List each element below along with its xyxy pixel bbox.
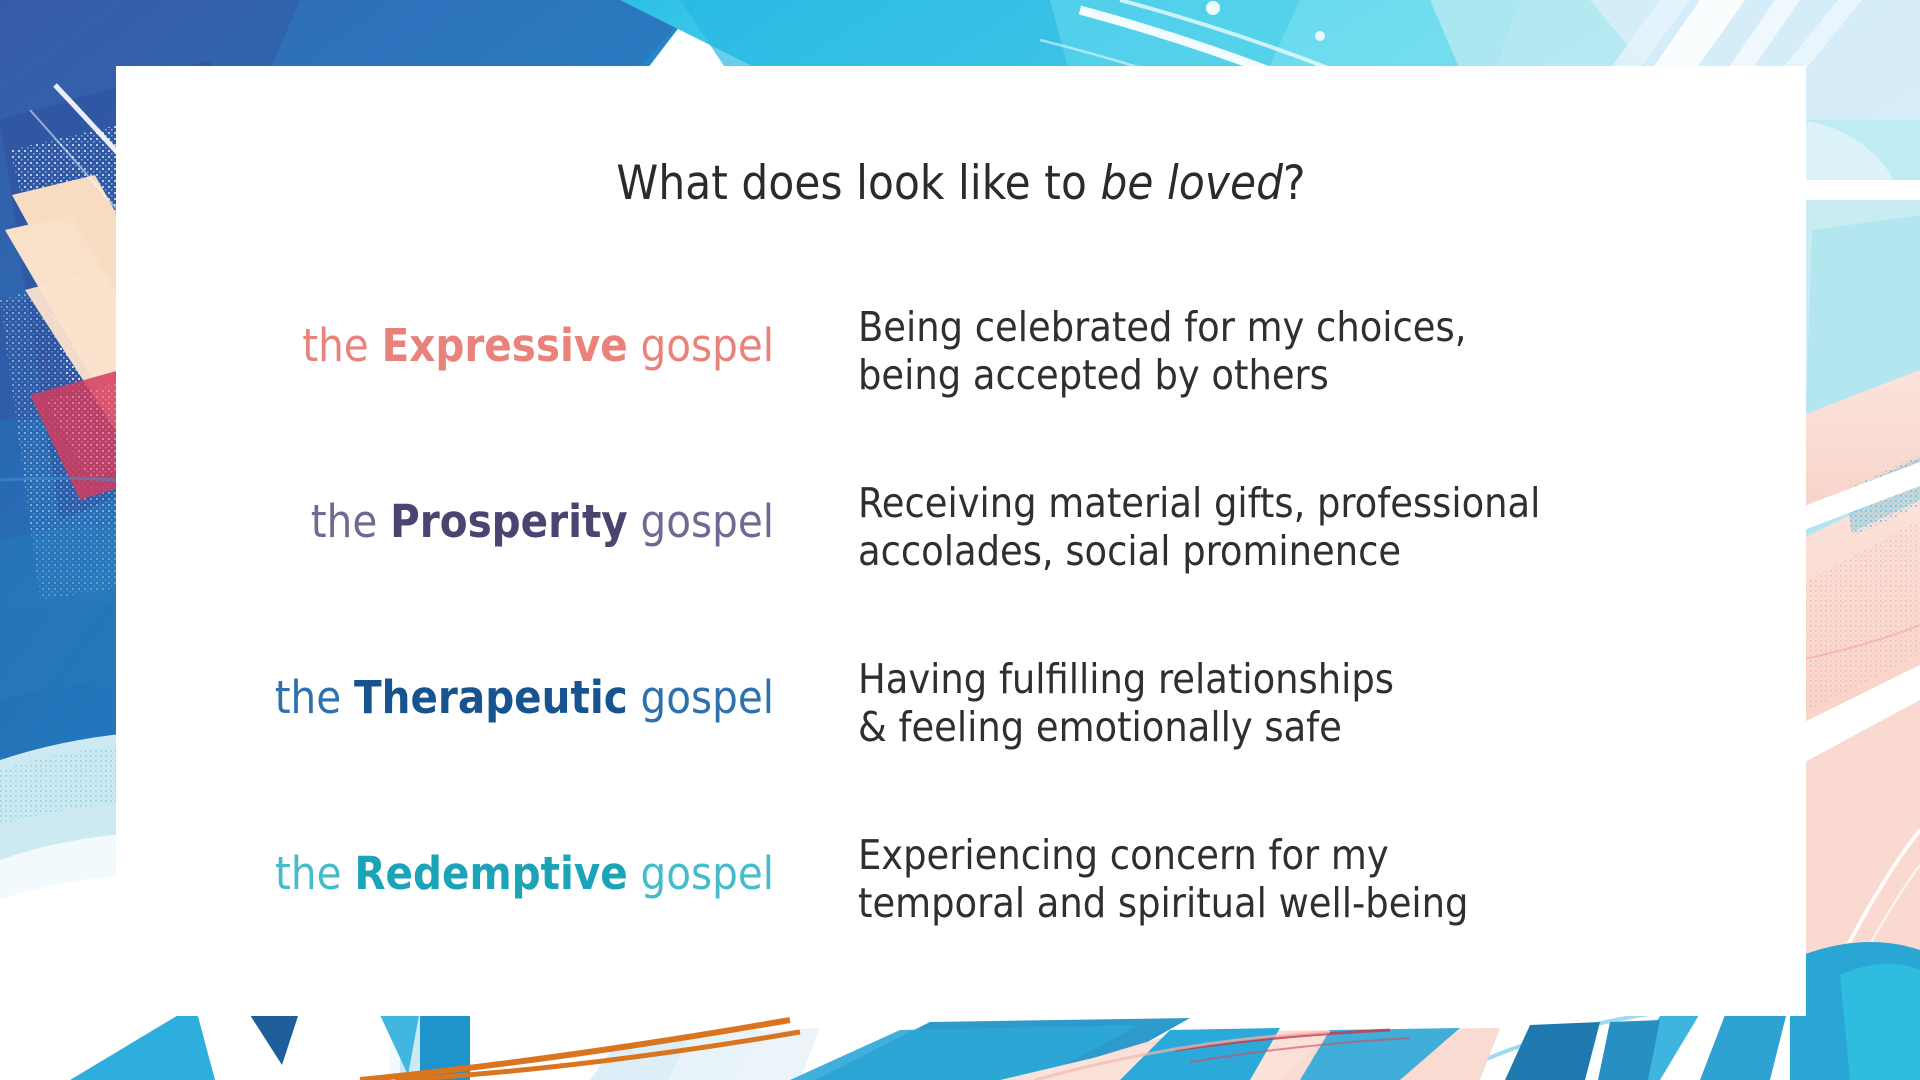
label-name: Prosperity	[390, 495, 628, 548]
label-gospel: gospel	[628, 671, 774, 724]
desc-line: Receiving material gifts, professional	[858, 479, 1806, 527]
label-article: the	[275, 671, 354, 724]
gospel-description-prosperity: Receiving material gifts, professional a…	[806, 447, 1806, 576]
list-item: the Therapeutic gospel Having fulfilling…	[116, 623, 1806, 799]
label-article: the	[302, 319, 381, 372]
label-article: the	[311, 495, 390, 548]
page-title: What does look like to be loved?	[116, 156, 1806, 211]
slide-canvas: What does look like to be loved? the Exp…	[0, 0, 1920, 1080]
title-prefix: What does look like to	[616, 156, 1100, 211]
desc-line: Experiencing concern for my	[858, 831, 1806, 879]
label-name: Expressive	[382, 319, 628, 372]
label-gospel: gospel	[628, 495, 774, 548]
gospel-list: the Expressive gospel Being celebrated f…	[116, 271, 1806, 975]
gospel-description-therapeutic: Having fulfilling relationships & feelin…	[806, 623, 1806, 752]
label-gospel: gospel	[628, 847, 774, 900]
desc-line: Having fulfilling relationships	[858, 655, 1806, 703]
desc-line: being accepted by others	[858, 351, 1806, 399]
desc-line: temporal and spiritual well-being	[858, 879, 1806, 927]
gospel-label-redemptive: the Redemptive gospel	[116, 799, 806, 896]
label-name: Redemptive	[354, 847, 627, 900]
gospel-label-expressive: the Expressive gospel	[116, 271, 806, 368]
title-emphasis: be loved	[1100, 156, 1283, 211]
desc-line: accolades, social prominence	[858, 527, 1806, 575]
desc-line: Being celebrated for my choices,	[858, 303, 1806, 351]
list-item: the Prosperity gospel Receiving material…	[116, 447, 1806, 623]
list-item: the Redemptive gospel Experiencing conce…	[116, 799, 1806, 975]
content-card: What does look like to be loved? the Exp…	[116, 66, 1806, 1016]
label-gospel: gospel	[628, 319, 774, 372]
label-article: the	[275, 847, 354, 900]
gospel-label-prosperity: the Prosperity gospel	[116, 447, 806, 544]
gospel-description-redemptive: Experiencing concern for my temporal and…	[806, 799, 1806, 928]
desc-line: & feeling emotionally safe	[858, 703, 1806, 751]
list-item: the Expressive gospel Being celebrated f…	[116, 271, 1806, 447]
title-suffix: ?	[1283, 156, 1306, 211]
label-name: Therapeutic	[354, 671, 628, 724]
gospel-label-therapeutic: the Therapeutic gospel	[116, 623, 806, 720]
gospel-description-expressive: Being celebrated for my choices, being a…	[806, 271, 1806, 400]
